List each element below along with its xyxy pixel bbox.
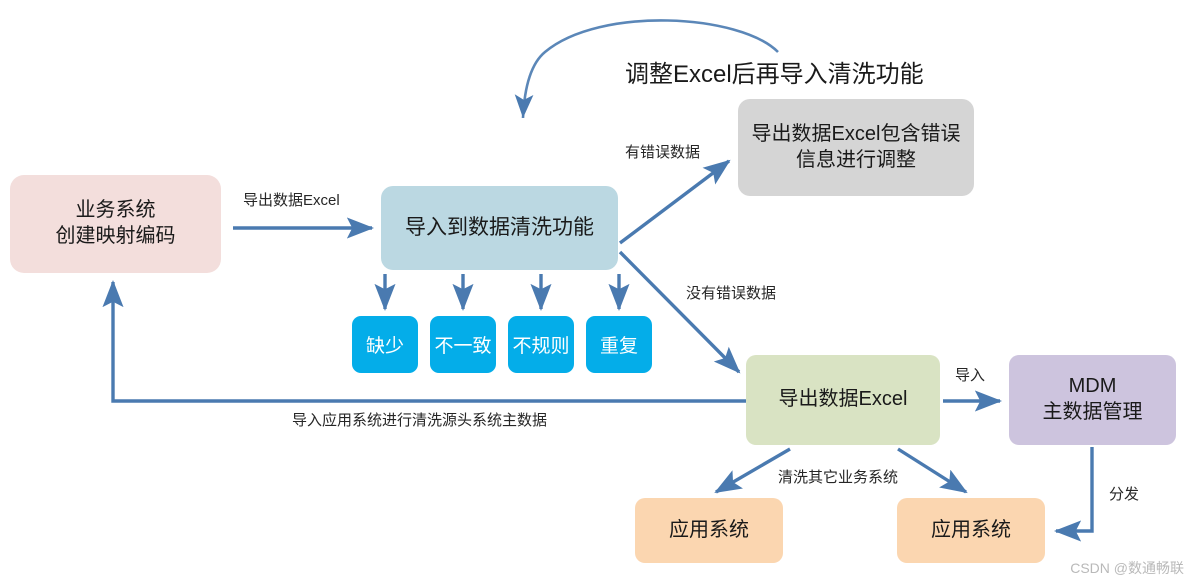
- edge-label-distribute: 分发: [1109, 483, 1139, 504]
- node-application-system-right[interactable]: 应用系统: [897, 498, 1045, 563]
- edge-label-has-error: 有错误数据: [625, 141, 700, 162]
- edge-mdm-to-app-right: [1056, 447, 1092, 531]
- quality-tag-irregular[interactable]: 不规则: [508, 316, 574, 373]
- node-export-error-excel[interactable]: 导出数据Excel包含错误 信息进行调整: [738, 99, 974, 196]
- edge-export-to-app-right: [898, 449, 966, 492]
- diagram-canvas: 调整Excel后再导入清洗功能 业务系统 创建映射编码 导入到数据清洗功能 导出…: [0, 0, 1192, 584]
- node-business-system[interactable]: 业务系统 创建映射编码: [10, 175, 221, 273]
- edge-label-import: 导入: [955, 364, 985, 385]
- edge-label-export-excel: 导出数据Excel: [243, 189, 340, 210]
- node-import-to-data-cleaning[interactable]: 导入到数据清洗功能: [381, 186, 618, 270]
- edge-label-import-to-app-systems: 导入应用系统进行清洗源头系统主数据: [292, 409, 547, 430]
- edge-label-clean-other-systems: 清洗其它业务系统: [778, 466, 898, 487]
- title-annotation: 调整Excel后再导入清洗功能: [625, 54, 924, 89]
- edge-clean-to-error: [620, 161, 729, 243]
- edge-layer: [0, 0, 1192, 584]
- node-application-system-left[interactable]: 应用系统: [635, 498, 783, 563]
- watermark: CSDN @数通畅联: [1070, 558, 1184, 578]
- quality-tag-inconsistent[interactable]: 不一致: [430, 316, 496, 373]
- quality-tag-missing[interactable]: 缺少: [352, 316, 418, 373]
- node-mdm-master-data[interactable]: MDM 主数据管理: [1009, 355, 1176, 445]
- node-export-data-excel[interactable]: 导出数据Excel: [746, 355, 940, 445]
- quality-tag-duplicate[interactable]: 重复: [586, 316, 652, 373]
- edge-label-no-error: 没有错误数据: [686, 282, 776, 303]
